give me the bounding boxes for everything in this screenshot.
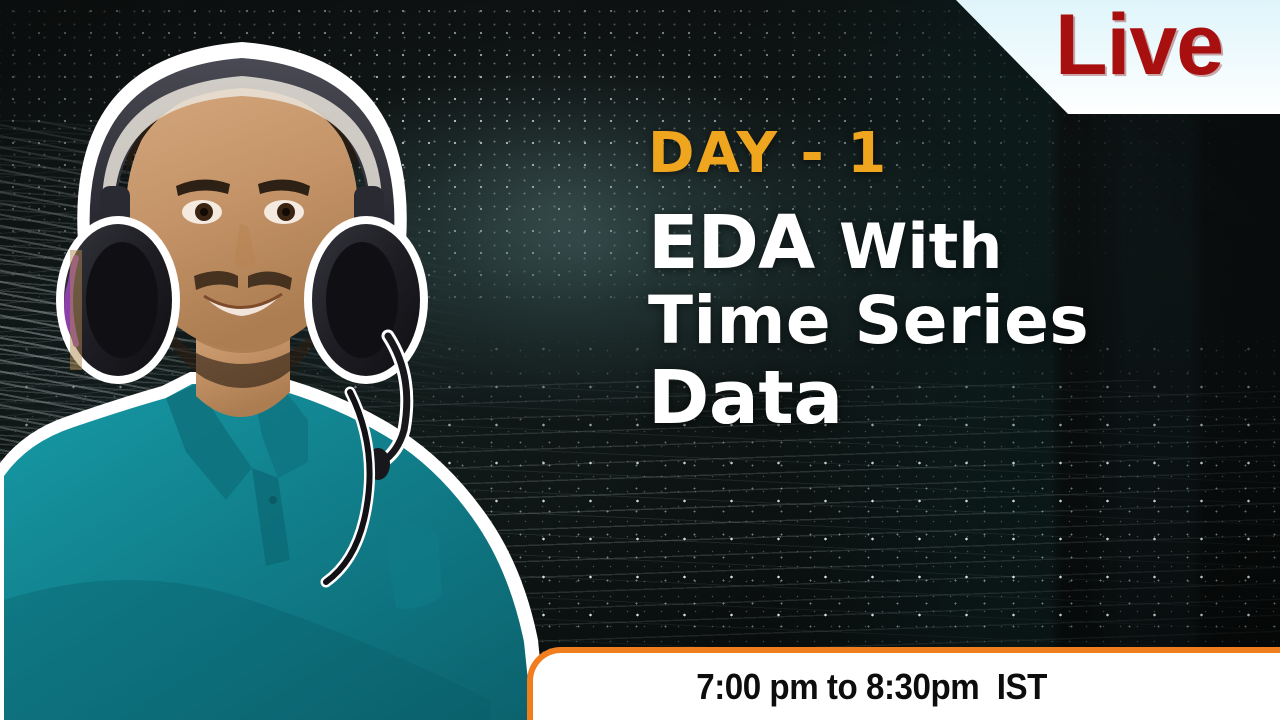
schedule-banner: 7:00 pm to 8:30pm IST [527,647,1280,720]
title-eda: EDA [648,200,814,286]
title-block: DAY - 1 EDA With Time Series Data [648,126,1268,436]
schedule-time-text: 7:00 pm to 8:30pm IST [696,666,1047,708]
live-badge-label: Live [1055,0,1223,95]
day-label: DAY - 1 [648,126,1268,182]
thumbnail-canvas: Live DAY - 1 EDA With Time Series Data 7… [0,0,1280,720]
title-with: With [839,210,1002,283]
title-line-2: Time Series [648,287,1268,354]
title-line-1: EDA With [648,206,1268,281]
title-line-3: Data [648,361,1268,436]
